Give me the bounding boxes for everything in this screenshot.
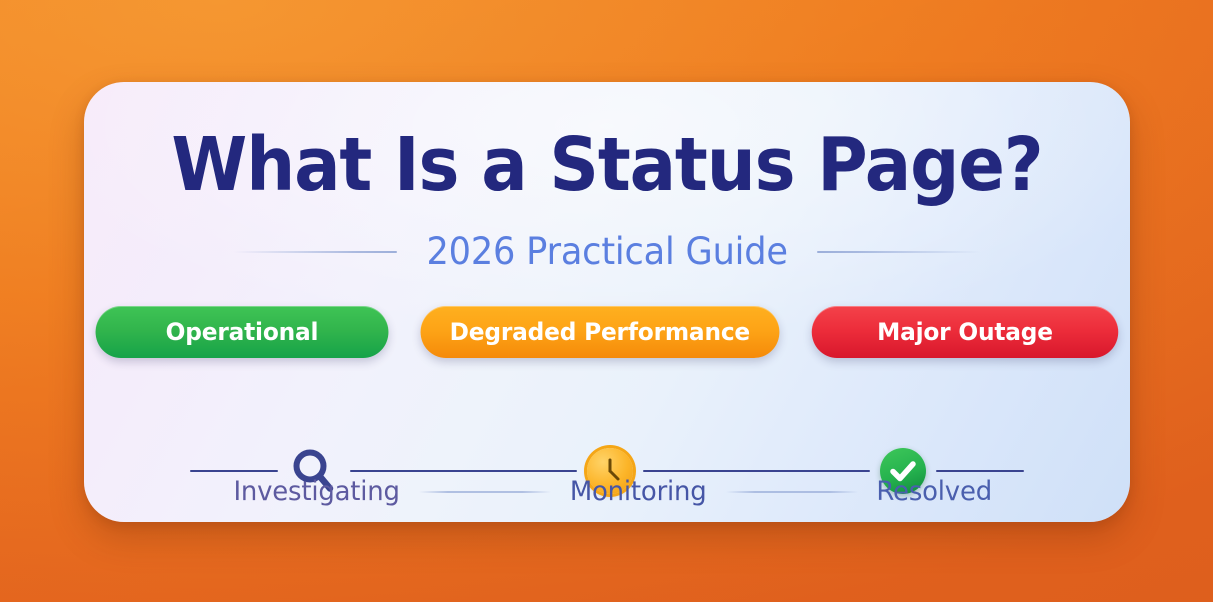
timeline-line-1 — [350, 470, 577, 472]
timeline-line-2 — [643, 470, 870, 472]
incident-timeline: Investigating Monitoring Resolved — [190, 394, 1024, 494]
timeline-line-end — [936, 470, 1024, 472]
timeline-label-rule-1 — [419, 491, 551, 493]
subtitle-row: 2026 Practical Guide — [84, 230, 1130, 273]
subtitle-rule-right — [817, 251, 981, 253]
status-pill-operational[interactable]: Operational — [96, 306, 389, 358]
card-inner: What Is a Status Page? 2026 Practical Gu… — [84, 82, 1130, 522]
timeline-label-resolved: Resolved — [876, 476, 992, 507]
page-subtitle: 2026 Practical Guide — [426, 230, 787, 273]
status-pill-group: Operational Degraded Performance Major O… — [84, 306, 1130, 358]
poster-stage: What Is a Status Page? 2026 Practical Gu… — [0, 0, 1213, 602]
timeline-label-investigating: Investigating — [233, 476, 399, 507]
page-title: What Is a Status Page? — [121, 128, 1094, 202]
subtitle-rule-left — [233, 251, 397, 253]
status-pill-major-outage[interactable]: Major Outage — [812, 306, 1119, 358]
timeline-label-row: Investigating Monitoring Resolved — [190, 476, 1024, 507]
status-pill-degraded-performance[interactable]: Degraded Performance — [421, 306, 780, 358]
timeline-line-start — [190, 470, 278, 472]
status-page-card: What Is a Status Page? 2026 Practical Gu… — [84, 82, 1130, 522]
timeline-label-monitoring: Monitoring — [570, 476, 707, 507]
timeline-label-rule-2 — [726, 491, 858, 493]
